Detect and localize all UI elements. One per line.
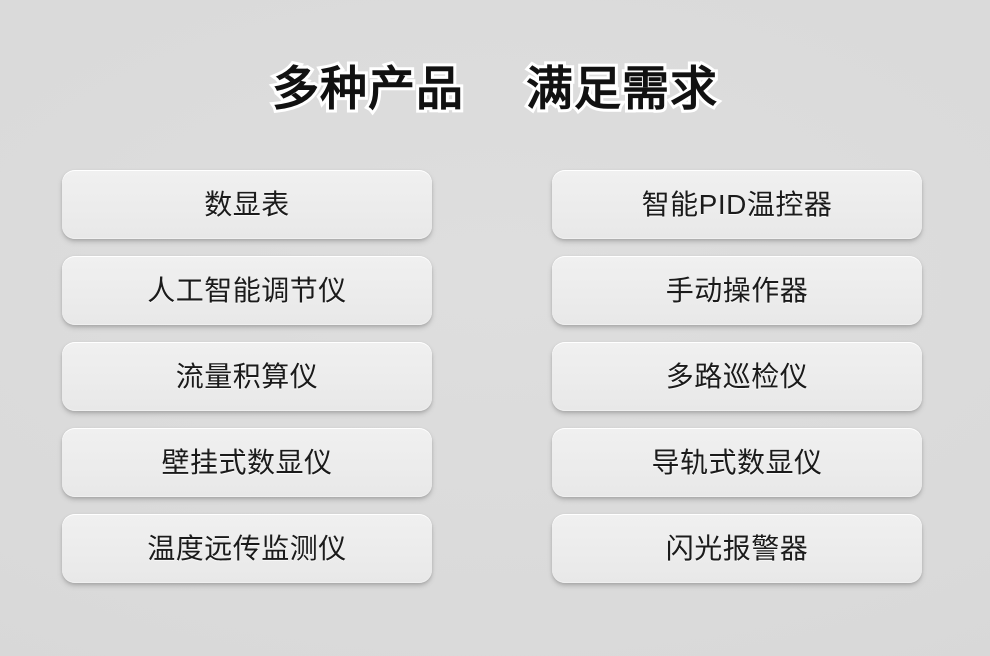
product-grid-page: 多种产品 满足需求 数显表 智能PID温控器 人工智能调节仪 手动操作器 流量积… (0, 0, 990, 656)
product-card-6[interactable]: 壁挂式数显仪 (62, 428, 432, 497)
product-card-5[interactable]: 多路巡检仪 (552, 342, 922, 411)
page-title-container: 多种产品 满足需求 (0, 58, 990, 120)
page-title: 多种产品 满足需求 (272, 58, 718, 120)
product-card-label: 导轨式数显仪 (651, 448, 822, 478)
product-card-label: 闪光报警器 (666, 534, 809, 564)
product-card-grid: 数显表 智能PID温控器 人工智能调节仪 手动操作器 流量积算仪 多路巡检仪 壁… (62, 170, 922, 583)
product-card-9[interactable]: 闪光报警器 (552, 514, 922, 583)
product-card-label: 智能PID温控器 (642, 190, 833, 220)
product-card-label: 温度远传监测仪 (147, 534, 347, 564)
product-card-2[interactable]: 人工智能调节仪 (62, 256, 432, 325)
product-card-label: 人工智能调节仪 (147, 276, 347, 306)
product-card-label: 流量积算仪 (176, 362, 319, 392)
product-card-4[interactable]: 流量积算仪 (62, 342, 432, 411)
product-card-label: 数显表 (204, 190, 290, 220)
product-card-3[interactable]: 手动操作器 (552, 256, 922, 325)
product-card-label: 壁挂式数显仪 (161, 448, 332, 478)
product-card-8[interactable]: 温度远传监测仪 (62, 514, 432, 583)
product-card-7[interactable]: 导轨式数显仪 (552, 428, 922, 497)
product-card-1[interactable]: 智能PID温控器 (552, 170, 922, 239)
product-card-0[interactable]: 数显表 (62, 170, 432, 239)
product-card-label: 手动操作器 (666, 276, 809, 306)
product-card-label: 多路巡检仪 (666, 362, 809, 392)
